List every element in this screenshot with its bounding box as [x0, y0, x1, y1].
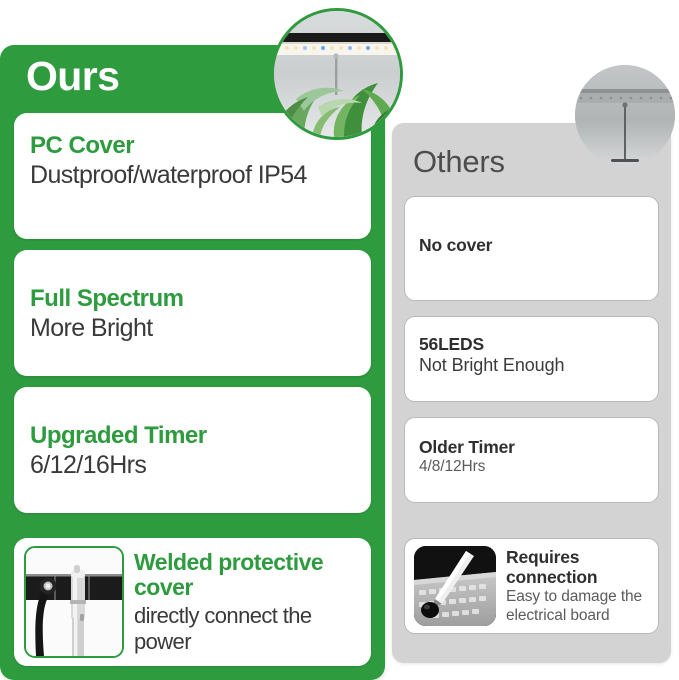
- ours-card-title: Full Spectrum: [30, 286, 355, 313]
- grow-light-over-plants-photo: [271, 8, 403, 140]
- others-feature-card-timer: Older Timer 4/8/12Hrs: [404, 417, 659, 503]
- others-card-title: 56LEDS: [419, 334, 644, 355]
- others-card-title: Requires connection: [506, 547, 649, 588]
- ours-feature-card-welded-cover: Welded protective cover directly connect…: [14, 538, 371, 666]
- ours-card-title: PC Cover: [30, 133, 355, 160]
- others-feature-card-no-cover: No cover: [404, 196, 659, 301]
- ours-feature-card-full-spectrum: Full Spectrum More Bright: [14, 250, 371, 376]
- screwdriver-on-led-board-photo: [414, 546, 496, 626]
- others-card-subtitle: Not Bright Enough: [419, 355, 644, 377]
- others-feature-card-leds: 56LEDS Not Bright Enough: [404, 316, 659, 402]
- others-card-subtitle: 4/8/12Hrs: [419, 458, 644, 477]
- ours-feature-card-upgraded-timer: Upgraded Timer 6/12/16Hrs: [14, 387, 371, 513]
- welded-cable-connector-photo: [24, 546, 124, 658]
- others-card-title: No cover: [419, 235, 644, 256]
- comparison-infographic: Others No cover 56LEDS Not Bright Enough…: [0, 0, 679, 680]
- others-card-title: Older Timer: [419, 437, 644, 458]
- ours-card-subtitle: directly connect the power: [134, 603, 361, 656]
- ours-card-title: Upgraded Timer: [30, 423, 355, 450]
- others-card-text: Requires connection Easy to damage the e…: [506, 547, 649, 625]
- others-feature-card-connection: Requires connection Easy to damage the e…: [404, 538, 659, 634]
- ours-card-title: Welded protective cover: [134, 550, 361, 600]
- ours-panel-title: Ours: [26, 56, 119, 97]
- ours-card-subtitle: 6/12/16Hrs: [30, 450, 355, 482]
- ours-card-subtitle: More Bright: [30, 313, 355, 345]
- others-panel-title: Others: [413, 146, 505, 177]
- ours-card-subtitle: Dustproof/waterproof IP54: [30, 160, 355, 192]
- others-card-subtitle: Easy to damage the electrical board: [506, 588, 649, 625]
- grayscale-light-bar-photo: [575, 65, 675, 165]
- ours-card-text: Welded protective cover directly connect…: [134, 548, 361, 655]
